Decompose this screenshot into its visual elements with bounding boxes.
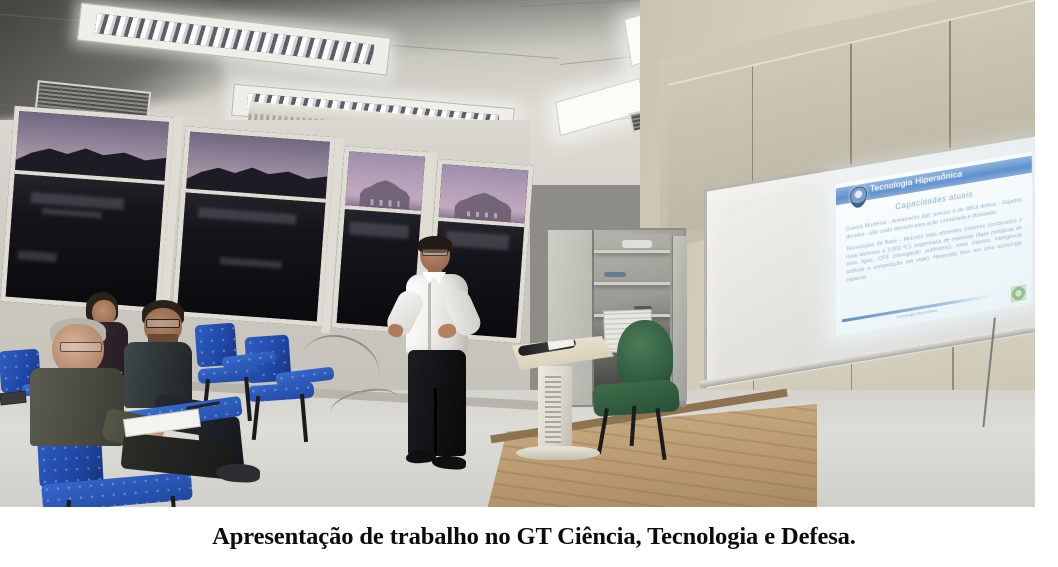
presenter-shoe: [432, 455, 467, 470]
presenter-trousers: [408, 350, 466, 456]
shoe: [216, 463, 261, 483]
window-reflection: [220, 257, 282, 269]
caption-bar: Apresentação de trabalho no GT Ciência, …: [0, 507, 1058, 567]
podium-column: [538, 366, 572, 450]
window-2: [172, 126, 336, 326]
window-reflection: [349, 221, 409, 239]
window-1: [0, 106, 174, 313]
window-transom: [345, 151, 425, 215]
glasses-icon: [422, 249, 448, 256]
institutional-crest-icon: [850, 185, 867, 209]
slide-logo-icon: [1011, 285, 1026, 303]
podium-top: [510, 336, 614, 370]
glasses-icon: [60, 342, 102, 352]
presenter: [398, 238, 494, 474]
classroom-photograph: Tecnologia Hipersônica Capacidades atuai…: [0, 0, 1035, 507]
building-lights: [370, 199, 399, 207]
chair-leg: [300, 394, 308, 442]
window-transom: [186, 132, 330, 203]
podium-base: [516, 446, 600, 460]
window-transom: [15, 111, 169, 185]
audience-member-front: [26, 318, 256, 507]
shirt-placket: [428, 278, 431, 350]
cabinet-shelf: [594, 282, 670, 285]
caption-text: Apresentação de trabalho no GT Ciência, …: [202, 523, 856, 551]
podium: [510, 336, 620, 462]
image-container: Tecnologia Hipersônica Capacidades atuai…: [0, 0, 1058, 567]
window-transom: [438, 164, 528, 227]
cabinet-item: [604, 272, 626, 277]
window-lower-pane: [6, 174, 165, 307]
cabinet-shelf: [594, 250, 670, 253]
window-reflection: [17, 251, 57, 262]
window-reflection: [198, 208, 296, 225]
building-lights: [467, 211, 500, 219]
trouser-seam: [434, 388, 437, 454]
cabinet-item: [622, 240, 652, 248]
window-reflection: [42, 208, 102, 219]
